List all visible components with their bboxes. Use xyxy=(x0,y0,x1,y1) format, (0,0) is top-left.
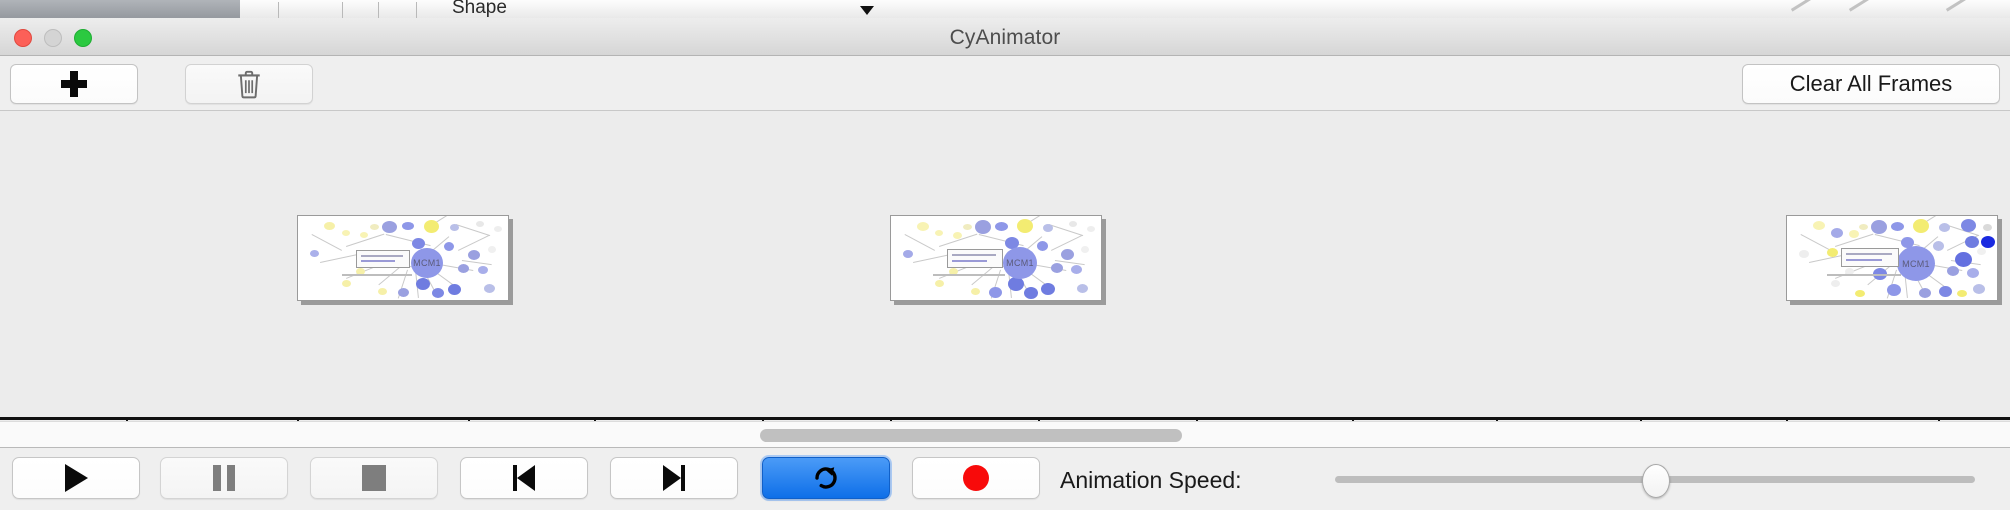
loop-refresh-icon xyxy=(811,463,841,493)
hub-node-label-1: MCM1 xyxy=(411,248,443,278)
play-button[interactable] xyxy=(12,457,140,499)
timeline-axis xyxy=(0,417,2010,420)
frame-thumbnail-2[interactable]: MCM1 xyxy=(890,215,1102,301)
background-window-label: Shape xyxy=(452,0,507,18)
skip-next-icon xyxy=(663,465,685,491)
animation-speed-label: Animation Speed: xyxy=(1060,467,1242,494)
record-icon xyxy=(963,465,989,491)
playback-control-bar: Animation Speed: xyxy=(0,447,2010,510)
loop-button[interactable] xyxy=(762,457,890,499)
plus-icon xyxy=(61,71,87,97)
pause-button[interactable] xyxy=(160,457,288,499)
clear-all-frames-button[interactable]: Clear All Frames xyxy=(1742,64,2000,104)
frame-toolbar: Clear All Frames xyxy=(0,56,2010,111)
timeline-panel[interactable]: MCM1 xyxy=(0,111,2010,421)
cyanimator-window: Shape CyAnimator Clear All Frames xyxy=(0,0,2010,510)
window-title: CyAnimator xyxy=(0,26,2010,50)
frame-thumbnail-1[interactable]: MCM1 xyxy=(297,215,509,301)
next-frame-button[interactable] xyxy=(610,457,738,499)
stop-icon xyxy=(362,465,386,491)
record-button[interactable] xyxy=(912,457,1040,499)
hub-node-label-2: MCM1 xyxy=(1003,247,1037,279)
stop-button[interactable] xyxy=(310,457,438,499)
frame-thumbnail-3[interactable]: MCM1 xyxy=(1786,215,1998,301)
play-icon xyxy=(65,464,88,492)
hub-node-label-3: MCM1 xyxy=(1897,246,1935,281)
scrollbar-thumb[interactable] xyxy=(760,429,1182,442)
previous-frame-button[interactable] xyxy=(460,457,588,499)
delete-frame-button[interactable] xyxy=(185,64,313,104)
trash-icon xyxy=(236,69,262,99)
add-frame-button[interactable] xyxy=(10,64,138,104)
background-desktop-strip: Shape xyxy=(0,0,2010,18)
title-bar: CyAnimator xyxy=(0,18,2010,56)
skip-previous-icon xyxy=(513,465,535,491)
animation-speed-slider-thumb[interactable] xyxy=(1642,464,1670,498)
timeline-scrollbar[interactable] xyxy=(0,421,2010,447)
pause-icon xyxy=(213,465,235,491)
